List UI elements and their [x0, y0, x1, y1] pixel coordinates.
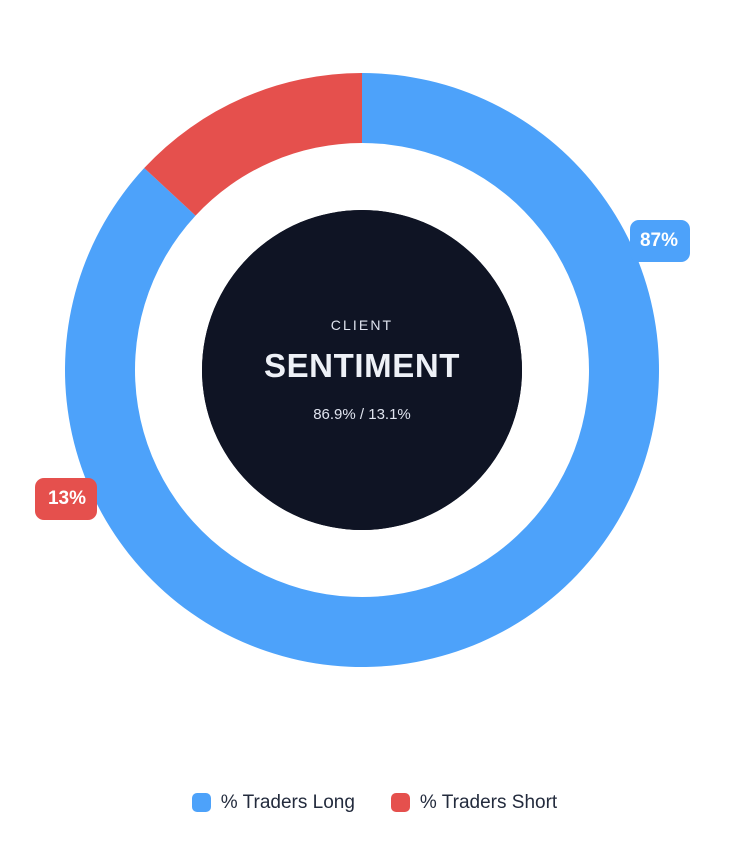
- callout-badge-short-label: 13%: [48, 488, 86, 510]
- hub-ratio-label: 86.9% / 13.1%: [313, 407, 411, 422]
- legend-item-traders-short[interactable]: % Traders Short: [391, 793, 557, 812]
- callout-badge-long-label: 87%: [640, 230, 678, 252]
- callout-badge-traders-short[interactable]: 13%: [35, 478, 97, 520]
- client-sentiment-widget: CLIENT SENTIMENT 86.9% / 13.1% 87% 13% %…: [0, 0, 749, 849]
- legend-label-traders-short: % Traders Short: [420, 793, 557, 812]
- donut-segment-traders-short[interactable]: [144, 73, 362, 216]
- chart-legend: % Traders Long % Traders Short: [0, 793, 749, 812]
- legend-swatch-short-icon: [391, 793, 410, 812]
- hub-eyebrow-label: CLIENT: [331, 318, 393, 332]
- donut-chart: CLIENT SENTIMENT 86.9% / 13.1% 87% 13%: [0, 0, 749, 770]
- hub-title-label: SENTIMENT: [264, 349, 460, 382]
- center-hub: CLIENT SENTIMENT 86.9% / 13.1%: [202, 210, 522, 530]
- callout-badge-traders-long[interactable]: 87%: [630, 220, 690, 262]
- legend-item-traders-long[interactable]: % Traders Long: [192, 793, 355, 812]
- legend-swatch-long-icon: [192, 793, 211, 812]
- legend-label-traders-long: % Traders Long: [221, 793, 355, 812]
